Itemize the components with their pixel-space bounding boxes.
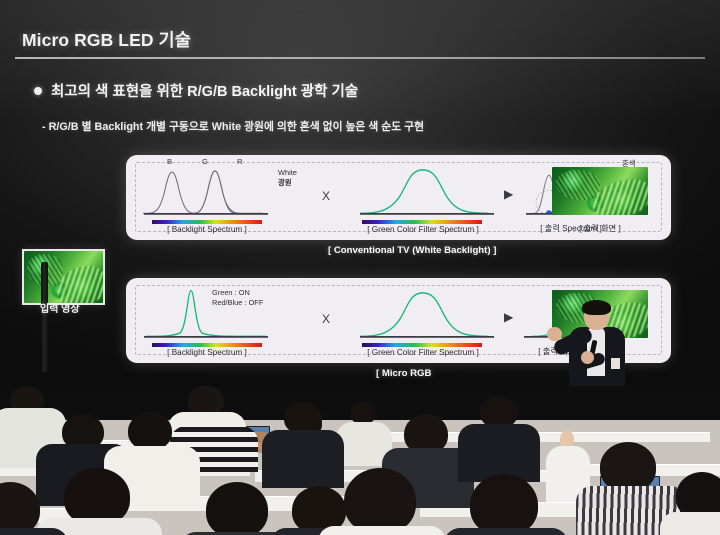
output-screen-thumbnail-row1 bbox=[552, 167, 648, 215]
spectrum-bar-row2-filter bbox=[362, 343, 482, 347]
backlight-state-line1: Green : ON bbox=[212, 288, 250, 297]
chart-row1-screen-label: [ 출력 화면 ] bbox=[552, 222, 648, 234]
chart-row1-filter-plot bbox=[348, 159, 498, 222]
person-head bbox=[600, 442, 656, 492]
person-torso bbox=[318, 526, 446, 535]
side-monitor-screen bbox=[24, 251, 103, 303]
chart-row2-backlight-label: [ Backlight Spectrum ] bbox=[142, 348, 272, 357]
white-source-annotation: White 광원 bbox=[278, 168, 297, 188]
chart-row1-filter-label: [ Green Color Filter Spectrum ] bbox=[348, 225, 498, 234]
presenter-badge bbox=[611, 358, 620, 369]
bullet-dot-icon bbox=[34, 87, 42, 95]
peak-label-r: R bbox=[237, 157, 242, 166]
caption-conventional-tv: [ Conventional TV (White Backlight) ] bbox=[328, 245, 496, 256]
page-title: Micro RGB LED 기술 bbox=[22, 27, 191, 52]
person-torso bbox=[660, 512, 720, 535]
chart-row1-backlight: B G R [ Backlight Spectrum ] bbox=[142, 155, 272, 240]
white-source-line2: 광원 bbox=[278, 178, 292, 187]
peak-label-b: B bbox=[167, 157, 172, 166]
chart-row2-filter: [ Green Color Filter Spectrum ] bbox=[348, 278, 498, 363]
operator-multiply-row2: X bbox=[322, 312, 330, 326]
person-head bbox=[344, 468, 416, 534]
person-head bbox=[206, 482, 268, 535]
person-torso bbox=[262, 430, 344, 488]
primary-bullet-label: 최고의 색 표현을 위한 R/G/B Backlight 광학 기술 bbox=[51, 80, 358, 101]
person-head bbox=[470, 474, 538, 535]
presenter-right-hand bbox=[581, 351, 594, 364]
presenter bbox=[565, 300, 631, 390]
title-divider bbox=[15, 57, 705, 59]
primary-bullet: 최고의 색 표현을 위한 R/G/B Backlight 광학 기술 bbox=[34, 80, 358, 101]
backlight-state-annotation: Green : ON Red/Blue : OFF bbox=[212, 288, 263, 308]
white-source-line1: White bbox=[278, 168, 297, 177]
chart-row1-filter: [ Green Color Filter Spectrum ] bbox=[348, 155, 498, 240]
person-torso bbox=[444, 528, 568, 535]
audience-area bbox=[0, 386, 720, 535]
foliage-texture-row1 bbox=[556, 170, 600, 200]
side-monitor bbox=[22, 249, 105, 305]
spectrum-bar-row2-backlight bbox=[152, 343, 262, 347]
backlight-state-line2: Red/Blue : OFF bbox=[212, 298, 263, 307]
secondary-bullet-label: - R/G/B 별 Backlight 개별 구동으로 White 광원에 의한… bbox=[42, 118, 424, 134]
operator-multiply-row1: X bbox=[322, 189, 330, 203]
arrow-row1: ▶ bbox=[504, 187, 513, 201]
panel-conventional-tv: B G R [ Backlight Spectrum ] White 광원 X bbox=[126, 155, 671, 240]
wall-light-sheen bbox=[0, 0, 720, 120]
spectrum-bar-row1-filter bbox=[362, 220, 482, 224]
screenshot-root: Micro RGB LED 기술 최고의 색 표현을 위한 R/G/B Back… bbox=[0, 0, 720, 535]
chart-row1-backlight-label: [ Backlight Spectrum ] bbox=[142, 225, 272, 234]
person-head bbox=[350, 402, 376, 424]
chart-row2-filter-label: [ Green Color Filter Spectrum ] bbox=[348, 348, 498, 357]
caption-micro-rgb: [ Micro RGB bbox=[376, 368, 431, 379]
presenter-hair bbox=[582, 300, 611, 315]
spectrum-bar-row1-backlight bbox=[152, 220, 262, 224]
person-torso bbox=[0, 528, 68, 535]
arrow-row2: ▶ bbox=[504, 310, 513, 324]
presentation-slide: Micro RGB LED 기술 최고의 색 표현을 위한 R/G/B Back… bbox=[0, 0, 720, 390]
presenter-left-hand bbox=[547, 327, 562, 341]
chart-row2-filter-plot bbox=[348, 282, 498, 345]
chart-row1-backlight-plot bbox=[142, 159, 272, 222]
person-head bbox=[190, 388, 218, 412]
peak-label-g: G bbox=[202, 157, 208, 166]
mic-stand bbox=[41, 262, 48, 372]
input-image-thumbnail bbox=[24, 251, 103, 303]
person-head bbox=[128, 412, 172, 450]
input-image-label: 입력 영상 bbox=[40, 300, 80, 315]
